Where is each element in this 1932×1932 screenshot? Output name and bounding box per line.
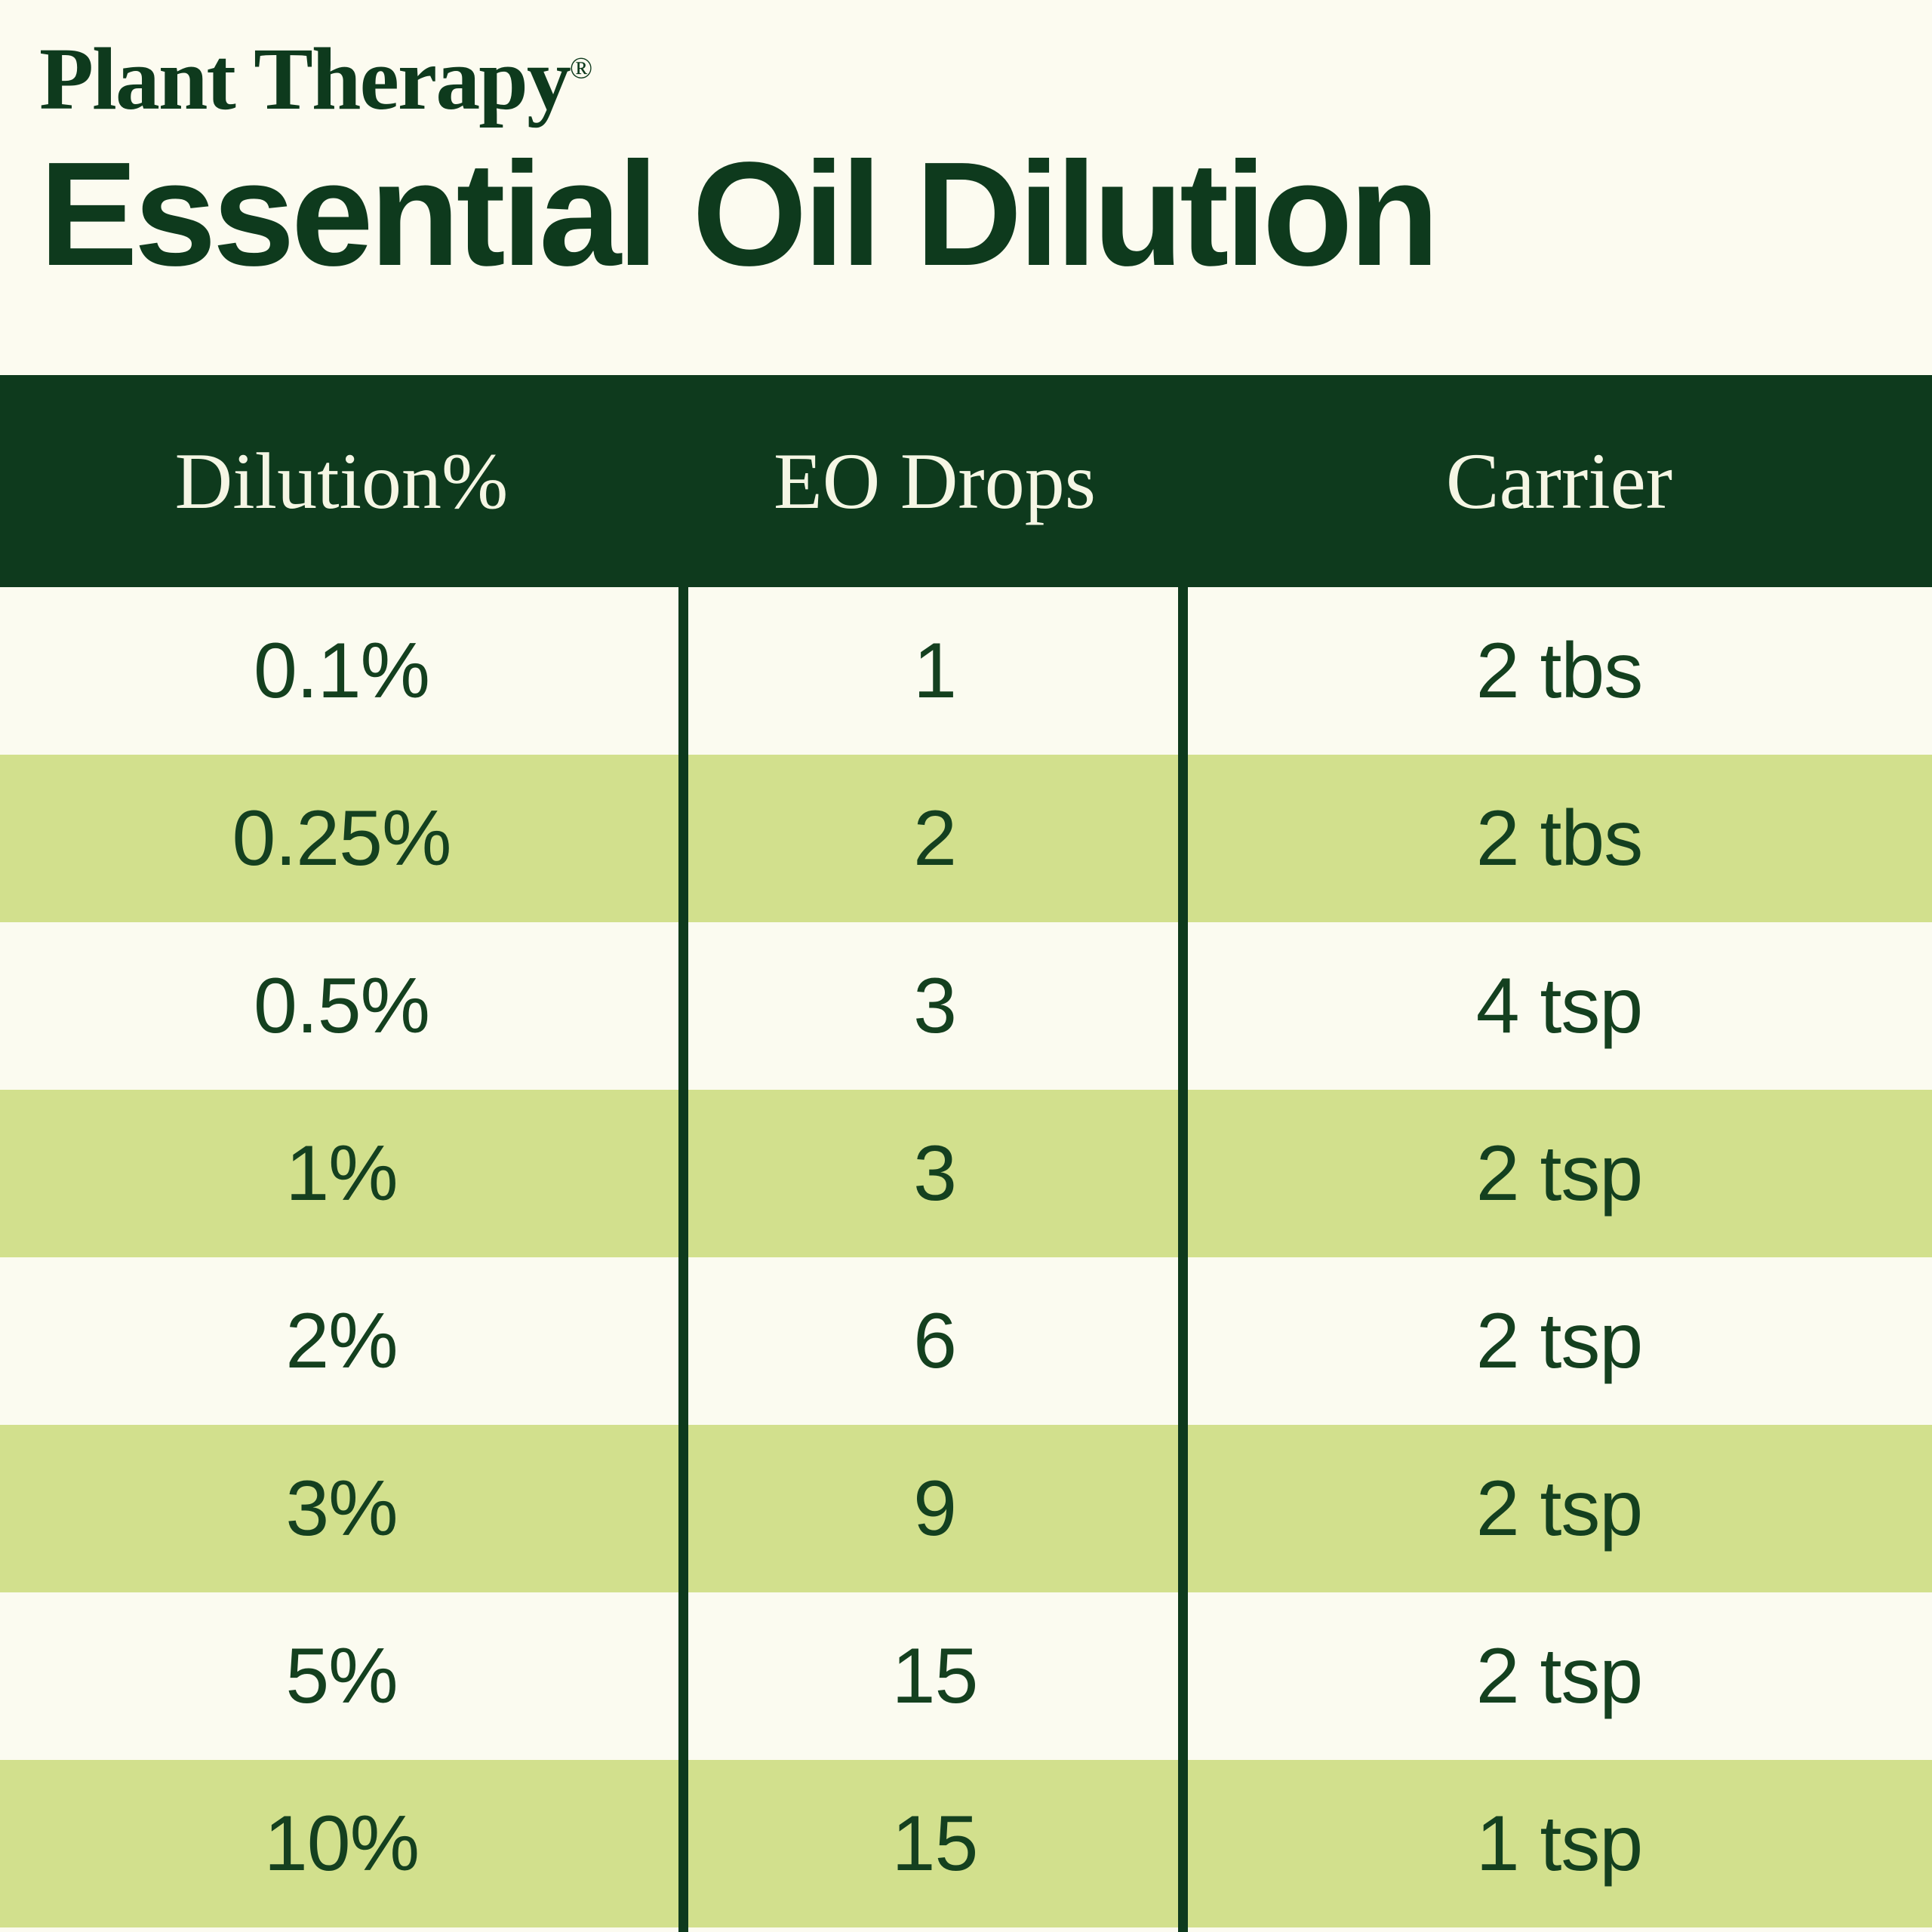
brand-header: Plant Therapy® Essential Oil Dilution [0,0,1932,375]
table-body: 0.1% 1 2 tbs 0.25% 2 2 tbs 0.5% 3 4 tsp … [0,587,1932,1927]
cell-carrier: 2 tsp [1186,1134,1932,1213]
dilution-table: Dilution% EO Drops Carrier 0.1% 1 2 tbs … [0,375,1932,1932]
table-row: 3% 9 2 tsp [0,1425,1932,1592]
cell-eo-drops: 15 [683,1637,1186,1715]
table-row: 0.25% 2 2 tbs [0,755,1932,922]
cell-dilution: 1% [0,1134,683,1213]
cell-eo-drops: 3 [683,1134,1186,1213]
cell-carrier: 1 tsp [1186,1804,1932,1883]
table-row: 5% 15 2 tsp [0,1592,1932,1760]
table-row: 2% 6 2 tsp [0,1257,1932,1425]
cell-carrier: 2 tsp [1186,1302,1932,1380]
brand-logo: Plant Therapy® [39,35,1932,124]
table-row: 1% 3 2 tsp [0,1090,1932,1257]
cell-dilution: 0.5% [0,967,683,1045]
cell-eo-drops: 15 [683,1804,1186,1883]
cell-carrier: 2 tsp [1186,1469,1932,1548]
cell-dilution: 5% [0,1637,683,1715]
cell-eo-drops: 1 [683,632,1186,710]
cell-dilution: 2% [0,1302,683,1380]
brand-logo-text: Plant Therapy [39,29,570,128]
cell-eo-drops: 3 [683,967,1186,1045]
table-row: 0.5% 3 4 tsp [0,922,1932,1090]
cell-dilution: 3% [0,1469,683,1548]
table-row: 10% 15 1 tsp [0,1760,1932,1927]
cell-carrier: 4 tsp [1186,967,1932,1045]
table-row: 0.1% 1 2 tbs [0,587,1932,755]
cell-dilution: 0.25% [0,799,683,878]
table-header-row: Dilution% EO Drops Carrier [0,375,1932,587]
cell-eo-drops: 6 [683,1302,1186,1380]
cell-carrier: 2 tbs [1186,632,1932,710]
cell-dilution: 10% [0,1804,683,1883]
page-title: Essential Oil Dilution [39,139,1932,290]
cell-carrier: 2 tsp [1186,1637,1932,1715]
cell-carrier: 2 tbs [1186,799,1932,878]
cell-dilution: 0.1% [0,632,683,710]
cell-eo-drops: 9 [683,1469,1186,1548]
column-header-dilution: Dilution% [0,441,683,521]
cell-eo-drops: 2 [683,799,1186,878]
column-header-carrier: Carrier [1186,441,1932,521]
column-header-eo-drops: EO Drops [683,441,1186,521]
registered-trademark-icon: ® [570,51,592,85]
